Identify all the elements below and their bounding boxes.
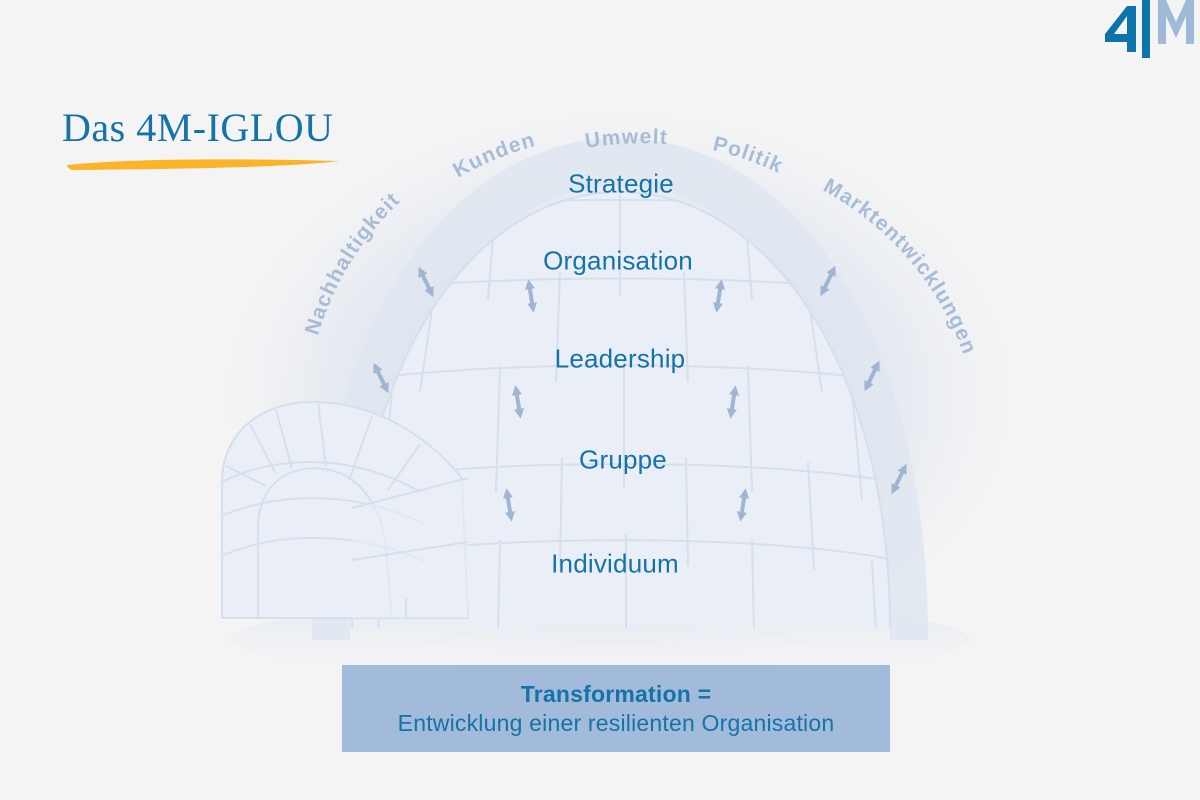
segment-label-gruppe: Gruppe xyxy=(579,445,667,476)
segment-label-leadership: Leadership xyxy=(555,344,686,375)
caption-line-2: Entwicklung einer resilienten Organisati… xyxy=(398,710,835,737)
segment-label-organisation: Organisation xyxy=(543,246,693,277)
svg-text:Kunden: Kunden xyxy=(449,128,538,182)
outer-label-kunden: Kunden xyxy=(449,128,538,182)
svg-text:Nachhaltigkeit: Nachhaltigkeit xyxy=(301,188,405,338)
outer-label-nachhaltigkeit: Nachhaltigkeit xyxy=(301,188,405,338)
outer-label-text: Kunden xyxy=(449,128,538,182)
segment-label-strategie: Strategie xyxy=(568,169,674,200)
outer-label-marktentwicklungen: Marktentwicklungen xyxy=(820,174,982,358)
caption-line-1: Transformation = xyxy=(521,681,711,708)
outer-label-politik: Politik xyxy=(711,132,787,178)
caption-banner: Transformation = Entwicklung einer resil… xyxy=(342,665,890,752)
outer-label-text: Marktentwicklungen xyxy=(820,174,982,358)
slide-canvas: Das 4M-IGLOU xyxy=(0,0,1200,800)
outer-label-umwelt: Umwelt xyxy=(583,125,668,153)
outer-label-text: Politik xyxy=(711,132,787,178)
segment-label-individuum: Individuum xyxy=(551,549,679,580)
svg-text:Umwelt: Umwelt xyxy=(583,125,668,153)
outer-label-text: Umwelt xyxy=(583,125,668,153)
svg-text:Politik: Politik xyxy=(711,132,787,178)
svg-text:Marktentwicklungen: Marktentwicklungen xyxy=(820,174,982,358)
outer-label-text: Nachhaltigkeit xyxy=(301,188,405,338)
